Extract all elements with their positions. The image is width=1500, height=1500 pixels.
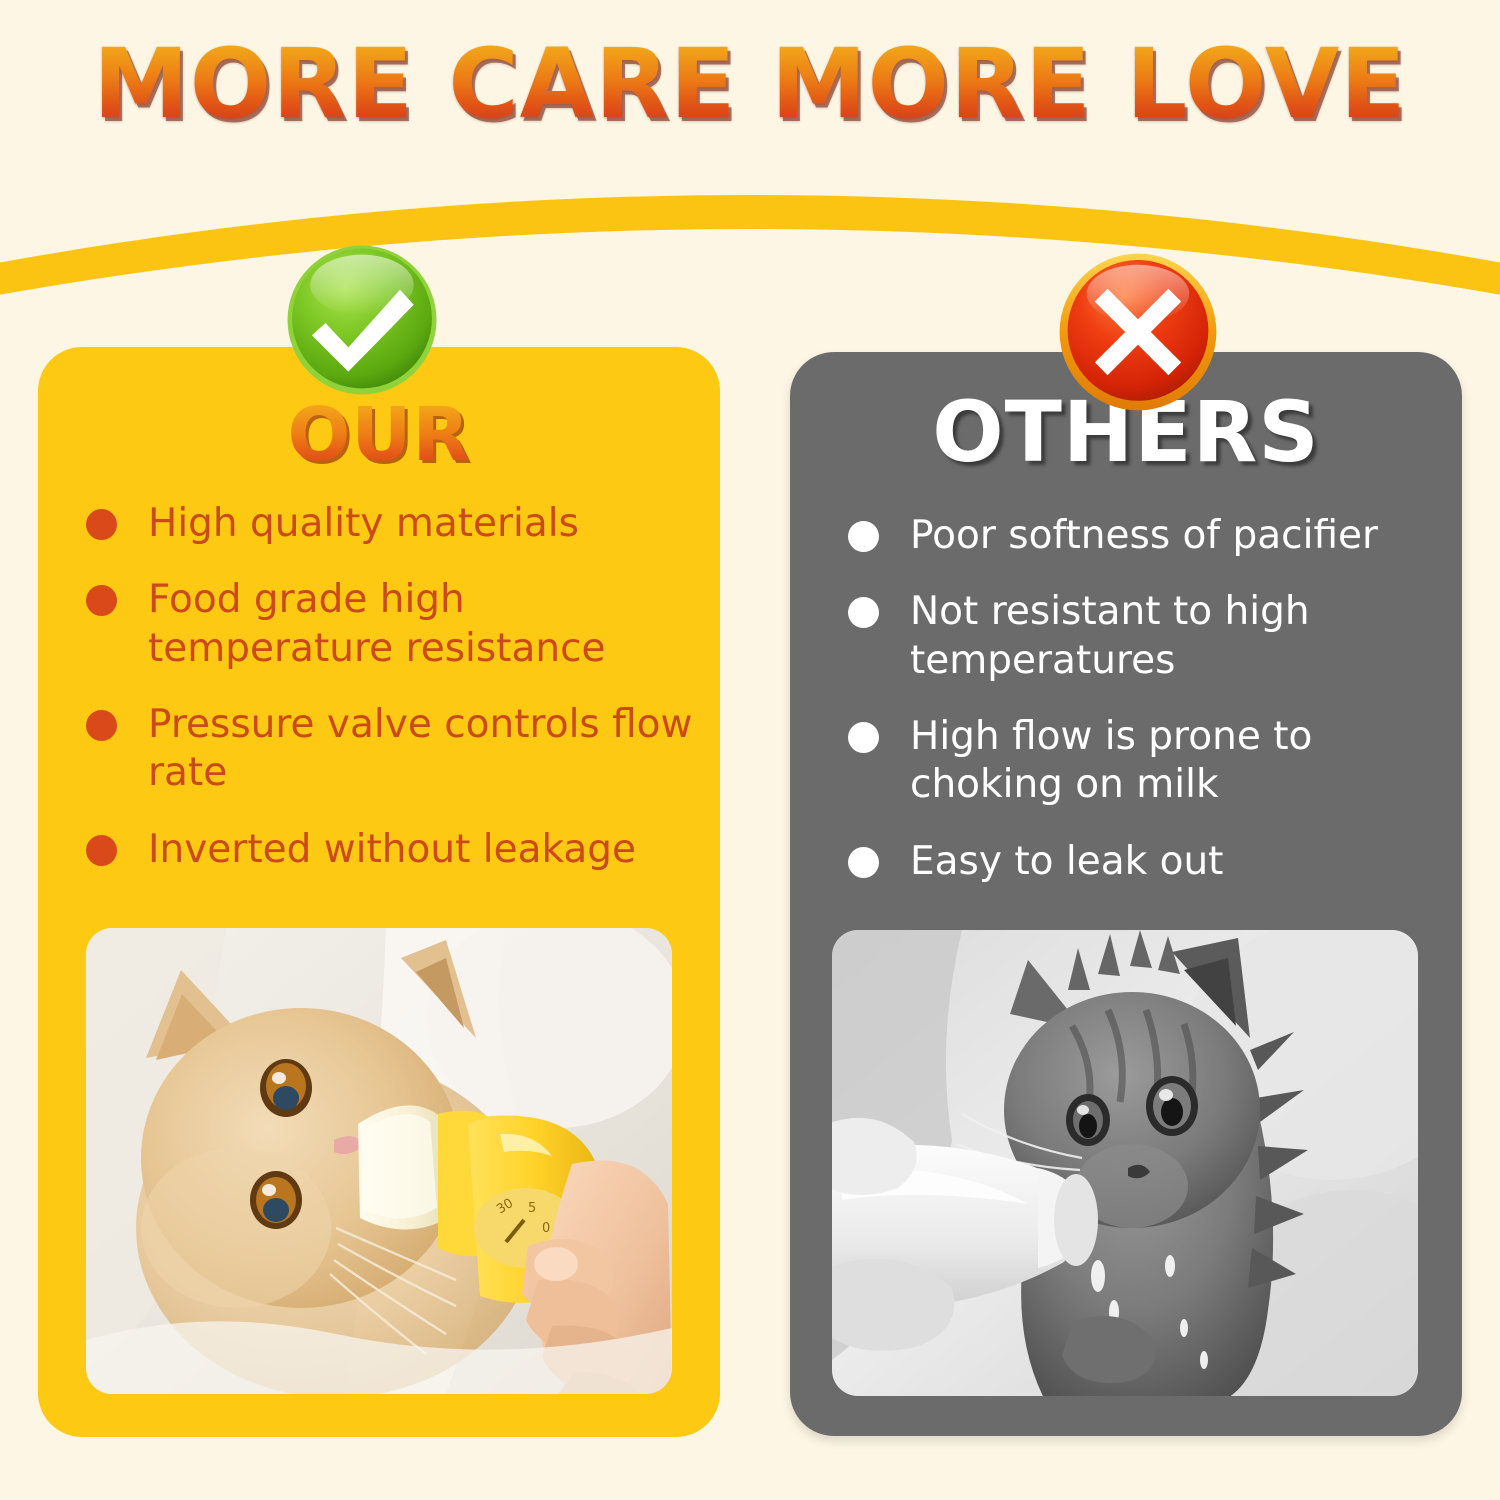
list-item: Pressure valve controls flow rate — [86, 701, 711, 798]
kitten-feeding-photo-grayscale — [832, 930, 1418, 1396]
list-item-label: High flow is prone to choking on milk — [910, 713, 1458, 810]
page-title: MORE CARE MORE LOVE — [0, 34, 1500, 135]
bullet-dot-icon — [86, 585, 117, 616]
bullet-dot-icon — [86, 509, 117, 540]
others-feature-list: Poor softness of pacifier Not resistant … — [848, 512, 1458, 914]
swoosh-arc-decoration — [0, 150, 1500, 290]
ours-heading-text: OUR — [288, 392, 471, 478]
bullet-dot-icon — [86, 835, 117, 866]
bullet-dot-icon — [848, 597, 879, 628]
check-circle-icon — [286, 244, 438, 396]
list-item-label: Easy to leak out — [910, 838, 1458, 886]
list-item-label: Pressure valve controls flow rate — [148, 701, 711, 798]
list-item-label: Poor softness of pacifier — [910, 512, 1458, 560]
x-circle-icon — [1058, 252, 1218, 412]
ours-heading: OUR — [38, 392, 720, 478]
list-item: High quality materials — [86, 500, 711, 548]
bullet-dot-icon — [848, 722, 879, 753]
list-item: Inverted without leakage — [86, 826, 711, 874]
bullet-dot-icon — [848, 521, 879, 552]
list-item: Easy to leak out — [848, 838, 1458, 886]
page-title-text: MORE CARE MORE LOVE — [93, 34, 1406, 135]
list-item-label: Food grade high temperature resistance — [148, 576, 711, 673]
list-item-label: High quality materials — [148, 500, 711, 548]
list-item: High flow is prone to choking on milk — [848, 713, 1458, 810]
kitten-feeding-photo-color: 30 5 0 5 — [86, 928, 672, 1394]
svg-text:5: 5 — [528, 1201, 536, 1216]
svg-text:0: 0 — [542, 1221, 550, 1236]
list-item: Not resistant to high temperatures — [848, 588, 1458, 685]
ours-feature-list: High quality materials Food grade high t… — [86, 500, 711, 902]
bullet-dot-icon — [848, 847, 879, 878]
list-item: Food grade high temperature resistance — [86, 576, 711, 673]
infographic-root: MORE CARE MORE LOVE — [0, 0, 1500, 1500]
list-item-label: Not resistant to high temperatures — [910, 588, 1458, 685]
bullet-dot-icon — [86, 710, 117, 741]
list-item-label: Inverted without leakage — [148, 826, 711, 874]
list-item: Poor softness of pacifier — [848, 512, 1458, 560]
